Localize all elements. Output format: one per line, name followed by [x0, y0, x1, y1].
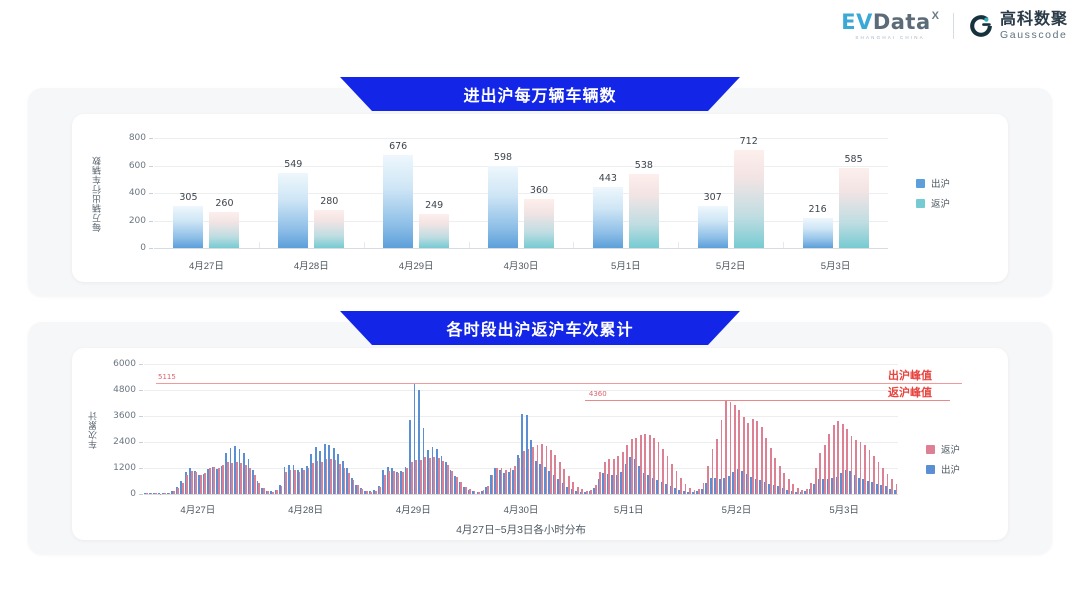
bar-hourly-back [321, 462, 323, 494]
bar-hourly-back [173, 491, 175, 494]
legend-swatch [916, 179, 925, 188]
bar-hourly-back [177, 488, 179, 494]
chart-card-1: 每万辆出行车辆数02004006008003052604月27日5492804月… [72, 114, 1008, 282]
bar-hourly-back [231, 463, 233, 494]
bar-hourly-back [254, 475, 256, 494]
bar-value-label: 305 [179, 192, 197, 203]
legend-swatch [926, 465, 935, 474]
bar-hourly-back [312, 463, 314, 494]
bar-chart-vehicles: 每万辆出行车辆数02004006008003052604月27日5492804月… [72, 114, 1008, 282]
bar-hourly-back [806, 489, 808, 494]
x-tick-label-2: 4月27日 [180, 502, 215, 516]
bar-hourly-back [833, 425, 835, 494]
legend-label: 返沪 [941, 442, 960, 456]
gridline-1 [154, 221, 888, 222]
bar-hourly-back [577, 487, 579, 494]
banner-title-2-text: 各时段出沪返沪车次累计 [446, 316, 633, 340]
y-tick-label-1: 0 [116, 243, 146, 253]
bar-hourly-back [689, 488, 691, 495]
bar-hourly-back [860, 442, 862, 494]
bar-出沪 [698, 206, 728, 248]
bar-hourly-back [779, 466, 781, 494]
bar-hourly-back [532, 447, 534, 494]
bar-hourly-back [774, 458, 776, 494]
bar-hourly-back [680, 478, 682, 494]
bar-hourly-back [222, 465, 224, 494]
bar-value-label: 538 [635, 160, 653, 171]
bar-hourly-back [420, 460, 422, 494]
bar-hourly-back [411, 462, 413, 494]
bar-出沪 [173, 206, 203, 248]
y-tick-mark-2 [139, 364, 143, 365]
bar-hourly-back [505, 470, 507, 494]
bar-hourly-back [792, 484, 794, 494]
bar-hourly-back [281, 486, 283, 494]
bar-hourly-back [698, 489, 700, 494]
bar-hourly-back [882, 468, 884, 494]
bar-value-label: 249 [425, 200, 443, 211]
bar-hourly-back [146, 493, 148, 494]
bar-hourly-back [514, 466, 516, 494]
bar-hourly-back [182, 483, 184, 494]
y-tick-mark-1 [149, 248, 153, 249]
evdata-logo: EVData X SHANGHAI CHINA [841, 12, 939, 40]
bar-value-label: 598 [494, 152, 512, 163]
bar-value-label: 260 [215, 198, 233, 209]
bar-value-label: 585 [844, 154, 862, 165]
bar-hourly-back [738, 410, 740, 495]
bar-hourly-back [195, 472, 197, 494]
annotation-label-peak-back: 返沪峰值 [888, 384, 932, 400]
bar-hourly-back [393, 471, 395, 494]
bar-出沪 [383, 155, 413, 248]
bar-hourly-back [361, 489, 363, 494]
bar-hourly-back [797, 488, 799, 494]
x-tick-label-2: 4月29日 [396, 502, 431, 516]
x-separator-1 [469, 242, 470, 248]
bar-hourly-back [213, 467, 215, 494]
bar-hourly-back [676, 471, 678, 494]
y-tick-label-1: 600 [116, 161, 146, 171]
x-tick-label-1: 4月30日 [504, 258, 539, 272]
y-tick-mark-2 [139, 390, 143, 391]
annotation-label-peak-out: 出沪峰值 [888, 367, 932, 383]
bar-hourly-back [631, 439, 633, 494]
bar-hourly-back [375, 491, 377, 494]
bar-hourly-back [465, 487, 467, 494]
y-tick-mark-2 [139, 468, 143, 469]
bar-返沪 [314, 210, 344, 249]
bar-hourly-back [783, 473, 785, 494]
bar-hourly-back [873, 456, 875, 494]
bar-hourly-back [554, 455, 556, 494]
bar-value-label: 360 [530, 185, 548, 196]
bar-hourly-back [658, 442, 660, 494]
bar-hourly-back [747, 423, 749, 494]
bar-hourly-back [402, 472, 404, 494]
header-logos: EVData X SHANGHAI CHINA 高科数聚 Gausscode [841, 12, 1068, 41]
legend-label: 出沪 [941, 462, 960, 476]
bar-hourly-back [379, 487, 381, 494]
bar-hourly-back [397, 473, 399, 494]
y-tick-mark-2 [139, 442, 143, 443]
bar-hourly-back [384, 475, 386, 495]
bar-hourly-back [788, 479, 790, 494]
bar-hourly-back [299, 472, 301, 494]
bar-hourly-back [285, 472, 287, 494]
y-axis-label-2: 车次累计 [86, 370, 99, 490]
bar-hourly-back [568, 476, 570, 494]
bar-hourly-back [752, 419, 754, 494]
y-tick-label-1: 200 [116, 216, 146, 226]
bar-hourly-back [761, 427, 763, 494]
bar-hourly-back [855, 440, 857, 494]
bar-hourly-back [263, 488, 265, 494]
annotation-value-peak-out: 5115 [158, 373, 176, 381]
x-separator-1 [678, 242, 679, 248]
bar-hourly-back [635, 438, 637, 494]
bar-hourly-back [429, 458, 431, 494]
bar-hourly-back [770, 448, 772, 494]
y-tick-mark-1 [149, 221, 153, 222]
gridline-2 [144, 364, 898, 365]
x-separator-1 [259, 242, 260, 248]
bar-hourly-back [339, 464, 341, 494]
bar-hourly-back [694, 490, 696, 494]
bar-hourly-back [743, 417, 745, 494]
bar-hourly-back [887, 474, 889, 494]
bar-hourly-back [864, 445, 866, 494]
legend-item-返沪[interactable]: 返沪 [916, 196, 950, 210]
bar-hourly-back [451, 471, 453, 494]
y-tick-label-2: 2400 [102, 437, 136, 447]
bar-hourly-back [388, 471, 390, 494]
panel-vehicles-per-10k: 每万辆出行车辆数02004006008003052604月27日5492804月… [28, 88, 1052, 296]
bar-hourly-back [586, 491, 588, 494]
bar-hourly-back [846, 429, 848, 494]
bar-hourly-back [276, 490, 278, 494]
bar-返沪 [839, 168, 869, 248]
x-tick-label-2: 5月1日 [614, 502, 644, 516]
bar-hourly-back [824, 445, 826, 494]
bar-hourly-back [209, 468, 211, 494]
bar-返沪 [524, 199, 554, 249]
bar-hourly-back [842, 424, 844, 494]
x-separator-1 [573, 242, 574, 248]
bar-value-label: 712 [740, 136, 758, 147]
chart-card-2: 车次累计0120024003600480060004月27日4月28日4月29日… [72, 348, 1008, 540]
y-tick-label-2: 4800 [102, 385, 136, 395]
gridline-2 [144, 390, 898, 391]
banner-title-2: 各时段出沪返沪车次累计 [340, 311, 740, 345]
bar-hourly-back [869, 450, 871, 494]
bar-value-label: 307 [704, 192, 722, 203]
bar-hourly-back [335, 460, 337, 494]
bar-hourly-back [353, 480, 355, 494]
dashboard-page: EVData X SHANGHAI CHINA 高科数聚 Gausscode 每… [0, 0, 1080, 608]
bar-返沪 [629, 174, 659, 248]
bar-出沪 [278, 173, 308, 248]
x-tick-label-1: 4月27日 [189, 258, 224, 272]
gridline-1 [154, 248, 888, 249]
bar-hourly-back [730, 402, 732, 494]
bar-hourly-back [442, 461, 444, 494]
bar-hourly-back [891, 479, 893, 494]
bar-hourly-back [501, 468, 503, 494]
bar-hourly-back [249, 468, 251, 494]
bar-hourly-back [424, 457, 426, 494]
bar-hourly-back [370, 492, 372, 494]
gausscode-g-icon [968, 13, 994, 39]
bar-出沪 [488, 166, 518, 248]
bar-hourly-back [330, 459, 332, 494]
y-tick-mark-2 [139, 416, 143, 417]
bar-hourly-back [572, 482, 574, 494]
bar-hourly-back [357, 485, 359, 494]
bar-hourly-back [478, 492, 480, 494]
bar-hourly-back [469, 489, 471, 494]
bar-hourly-back [851, 436, 853, 495]
bar-hourly-back [703, 483, 705, 494]
gridline-2 [144, 494, 898, 495]
annotation-value-peak-back: 4360 [589, 390, 607, 398]
bar-hourly-back [164, 493, 166, 494]
legend-swatch [916, 199, 925, 208]
bar-hourly-back [267, 491, 269, 494]
bar-hourly-back [303, 470, 305, 494]
bar-hourly-back [290, 470, 292, 494]
x-tick-label-1: 4月28日 [294, 258, 329, 272]
bar-hourly-back [599, 472, 601, 494]
y-tick-label-2: 3600 [102, 411, 136, 421]
bar-hourly-back [671, 464, 673, 494]
bar-返沪 [734, 150, 764, 248]
bar-hourly-back [721, 420, 723, 494]
bar-hourly-back [563, 469, 565, 494]
x-tick-label-1: 5月3日 [821, 258, 851, 272]
x-separator-1 [783, 242, 784, 248]
bar-返沪 [209, 212, 239, 248]
evdata-logo-superscript: X [932, 10, 939, 22]
bar-hourly-back [622, 452, 624, 494]
bar-hourly-back [447, 465, 449, 494]
evdata-logo-data: Data [873, 10, 931, 34]
y-tick-label-2: 1200 [102, 463, 136, 473]
bar-hourly-back [581, 489, 583, 494]
banner-title-1-text: 进出沪每万辆车辆数 [463, 82, 616, 106]
bar-hourly-back [433, 457, 435, 494]
gausscode-logo-en: Gausscode [1000, 30, 1068, 41]
gausscode-logo: 高科数聚 Gausscode [968, 12, 1068, 41]
bar-hourly-back [712, 449, 714, 495]
bar-value-label: 549 [284, 159, 302, 170]
bar-hourly-back [186, 475, 188, 495]
legend-swatch [926, 445, 935, 454]
gridline-1 [154, 166, 888, 167]
y-axis-label-1: 每万辆出行车辆数 [90, 144, 103, 244]
banner-title-1: 进出沪每万辆车辆数 [340, 77, 740, 111]
legend-chart-1: 出沪返沪 [916, 176, 950, 210]
bar-hourly-back [240, 463, 242, 494]
bar-hourly-back [236, 462, 238, 495]
bar-hourly-back [640, 435, 642, 494]
bar-hourly-back [667, 456, 669, 494]
bar-hourly-back [200, 475, 202, 495]
bar-hourly-back [496, 468, 498, 494]
bar-hourly-back [815, 468, 817, 494]
y-tick-mark-1 [149, 138, 153, 139]
bar-hourly-back [272, 492, 274, 494]
bar-hourly-back [191, 471, 193, 494]
bar-hourly-back [595, 485, 597, 494]
evdata-logo-ev: EV [841, 10, 873, 34]
legend-item-返沪[interactable]: 返沪 [926, 442, 960, 456]
x-tick-label-2: 4月28日 [288, 502, 323, 516]
bar-hourly-back [716, 439, 718, 494]
bar-hourly-back [828, 434, 830, 494]
bar-hourly-back [644, 434, 646, 494]
bar-hourly-back [523, 451, 525, 494]
bar-hourly-back [590, 490, 592, 494]
y-tick-label-2: 0 [102, 489, 136, 499]
bar-hourly-back [604, 462, 606, 494]
y-tick-label-1: 800 [116, 133, 146, 143]
bar-hourly-back [438, 458, 440, 494]
annotation-line-peak-out [156, 383, 962, 384]
bar-hourly-back [460, 482, 462, 494]
bar-hourly-back [344, 468, 346, 494]
legend-label: 出沪 [931, 176, 950, 190]
bar-hourly-back [649, 435, 651, 494]
bar-hourly-back [550, 450, 552, 494]
bar-hourly-back [294, 470, 296, 494]
bar-hourly-back [258, 483, 260, 494]
bar-hourly-back [218, 468, 220, 494]
bar-hourly-back [169, 493, 171, 494]
bar-hourly-back [559, 462, 561, 494]
y-tick-mark-1 [149, 166, 153, 167]
bar-value-label: 676 [389, 141, 407, 152]
bar-hourly-back [537, 445, 539, 494]
bar-hourly-back [366, 491, 368, 494]
bar-hourly-back [326, 459, 328, 494]
bar-hourly-back [483, 490, 485, 494]
y-tick-mark-1 [149, 193, 153, 194]
panel-hourly-trips: 车次累计0120024003600480060004月27日4月28日4月29日… [28, 322, 1052, 554]
legend-label: 返沪 [931, 196, 950, 210]
bar-value-label: 443 [599, 173, 617, 184]
logo-divider [953, 13, 954, 39]
bar-hourly-back [617, 456, 619, 494]
bar-hourly-back [456, 477, 458, 494]
x-tick-label-1: 5月1日 [611, 258, 641, 272]
x-tick-label-1: 5月2日 [716, 258, 746, 272]
x-tick-label-2: 5月3日 [829, 502, 859, 516]
x-tick-label-2: 5月2日 [722, 502, 752, 516]
bar-hourly-back [519, 458, 521, 494]
bar-hourly-back [756, 421, 758, 494]
bar-hourly-back [245, 465, 247, 494]
bar-hourly-back [707, 466, 709, 494]
bar-value-label: 216 [808, 204, 826, 215]
bar-hourly-back [308, 468, 310, 494]
x-tick-label-2: 4月30日 [504, 502, 539, 516]
bar-hourly-back [662, 449, 664, 494]
bar-hourly-back [819, 453, 821, 494]
bar-hourly-back [348, 473, 350, 494]
bar-hourly-back [685, 484, 687, 494]
bar-hourly-back [415, 460, 417, 494]
bar-hourly-back [653, 438, 655, 494]
bar-chart-hourly: 车次累计0120024003600480060004月27日4月28日4月29日… [72, 348, 1008, 540]
bar-hourly-back [878, 462, 880, 494]
bar-hourly-back [151, 493, 153, 494]
bar-hourly-back [765, 438, 767, 494]
bar-hourly-back [546, 446, 548, 494]
bar-返沪 [419, 214, 449, 248]
legend-item-出沪[interactable]: 出沪 [926, 462, 960, 476]
bar-hourly-back [626, 445, 628, 494]
y-tick-mark-2 [139, 494, 143, 495]
bar-出沪 [803, 218, 833, 248]
bar-hourly-back [608, 459, 610, 494]
bar-hourly-back [227, 462, 229, 494]
bar-hourly-back [896, 484, 898, 494]
evdata-logo-tagline: SHANGHAI CHINA [855, 35, 925, 40]
legend-item-出沪[interactable]: 出沪 [916, 176, 950, 190]
legend-chart-2: 返沪出沪 [926, 442, 960, 476]
bar-hourly-back [528, 449, 530, 494]
bar-hourly-back [541, 444, 543, 494]
y-tick-label-1: 400 [116, 188, 146, 198]
bar-hourly-back [725, 400, 727, 494]
bar-hourly-back [406, 468, 408, 494]
y-tick-label-2: 6000 [102, 359, 136, 369]
x-axis-title-2: 4月27日~5月3日各小时分布 [456, 522, 586, 537]
bar-hourly-back [492, 475, 494, 494]
bar-hourly-back [317, 461, 319, 494]
bar-hourly-back [613, 459, 615, 494]
gausscode-logo-cn: 高科数聚 [1000, 12, 1068, 28]
bar-出沪 [593, 187, 623, 248]
x-separator-1 [364, 242, 365, 248]
bar-hourly-back [810, 483, 812, 494]
bar-hourly-back [510, 468, 512, 494]
gridline-1 [154, 193, 888, 194]
bar-hourly-back [801, 490, 803, 494]
bar-hourly-back [734, 405, 736, 494]
bar-hourly-back [837, 421, 839, 494]
bar-value-label: 280 [320, 196, 338, 207]
bar-hourly-back [474, 491, 476, 494]
bar-hourly-back [155, 493, 157, 494]
gridline-1 [154, 138, 888, 139]
bar-hourly-back [487, 486, 489, 494]
x-tick-label-1: 4月29日 [399, 258, 434, 272]
annotation-line-peak-back [585, 400, 950, 401]
bar-hourly-back [204, 473, 206, 494]
